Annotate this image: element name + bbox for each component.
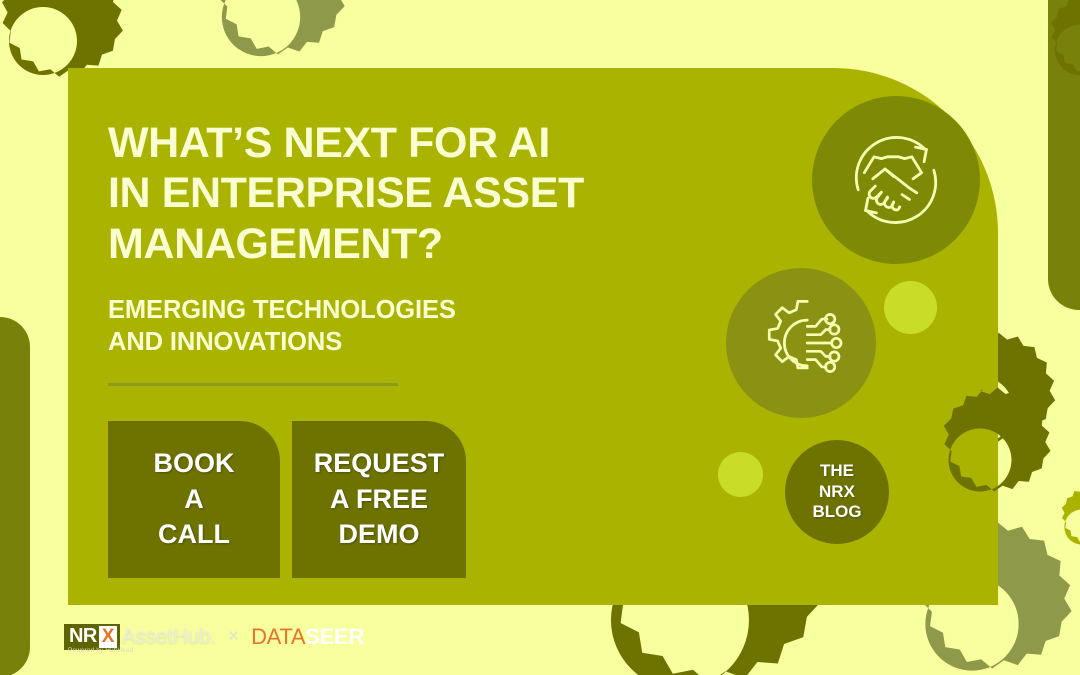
- gear-circuit-ai-icon: [726, 268, 876, 418]
- dataseer-logo: DATASEER: [251, 624, 364, 650]
- blog-badge-label: THE NRX BLOG: [812, 461, 861, 522]
- page-subtitle: EMERGING TECHNOLOGIES AND INNOVATIONS: [108, 295, 688, 359]
- decorative-gear-panel-bottom-dark: [1020, 0, 1080, 110]
- decorative-gear-upper-right-dark-small: [905, 385, 1055, 535]
- powered-by-hubhead-tagline: Powered by HubHead: [68, 647, 133, 654]
- book-a-call-button[interactable]: BOOK A CALL: [108, 421, 280, 578]
- nrx-wordmark-text: NR: [69, 625, 97, 648]
- decorative-bar-left: [0, 317, 30, 675]
- nrx-assethub-logo: NR X AssetHub. Powered by HubHead: [64, 624, 216, 650]
- request-a-free-demo-button[interactable]: REQUEST A FREE DEMO: [292, 421, 466, 578]
- handshake-cycle-icon: [812, 96, 980, 264]
- the-nrx-blog-badge[interactable]: THE NRX BLOG: [785, 440, 889, 544]
- cta-button-group: BOOK A CALL REQUEST A FREE DEMO: [108, 421, 466, 578]
- decorative-circle-lime-upper: [884, 281, 937, 334]
- page-title: WHAT’S NEXT FOR AI IN ENTERPRISE ASSET M…: [108, 118, 688, 269]
- promo-banner: WHAT’S NEXT FOR AI IN ENTERPRISE ASSET M…: [0, 0, 1080, 675]
- assethub-wordmark: AssetHub.: [122, 625, 216, 649]
- logo-separator-x: ×: [228, 626, 239, 648]
- hero-text-block: WHAT’S NEXT FOR AI IN ENTERPRISE ASSET M…: [108, 118, 688, 386]
- dataseer-data-text: DATA: [251, 624, 305, 649]
- decorative-circle-lime-lower: [718, 452, 763, 497]
- dataseer-seer-text: SEER: [305, 624, 364, 649]
- nrx-x-mark: X: [99, 626, 117, 648]
- logo-lockup: NR X AssetHub. Powered by HubHead × DATA…: [64, 624, 364, 650]
- divider: [108, 383, 398, 386]
